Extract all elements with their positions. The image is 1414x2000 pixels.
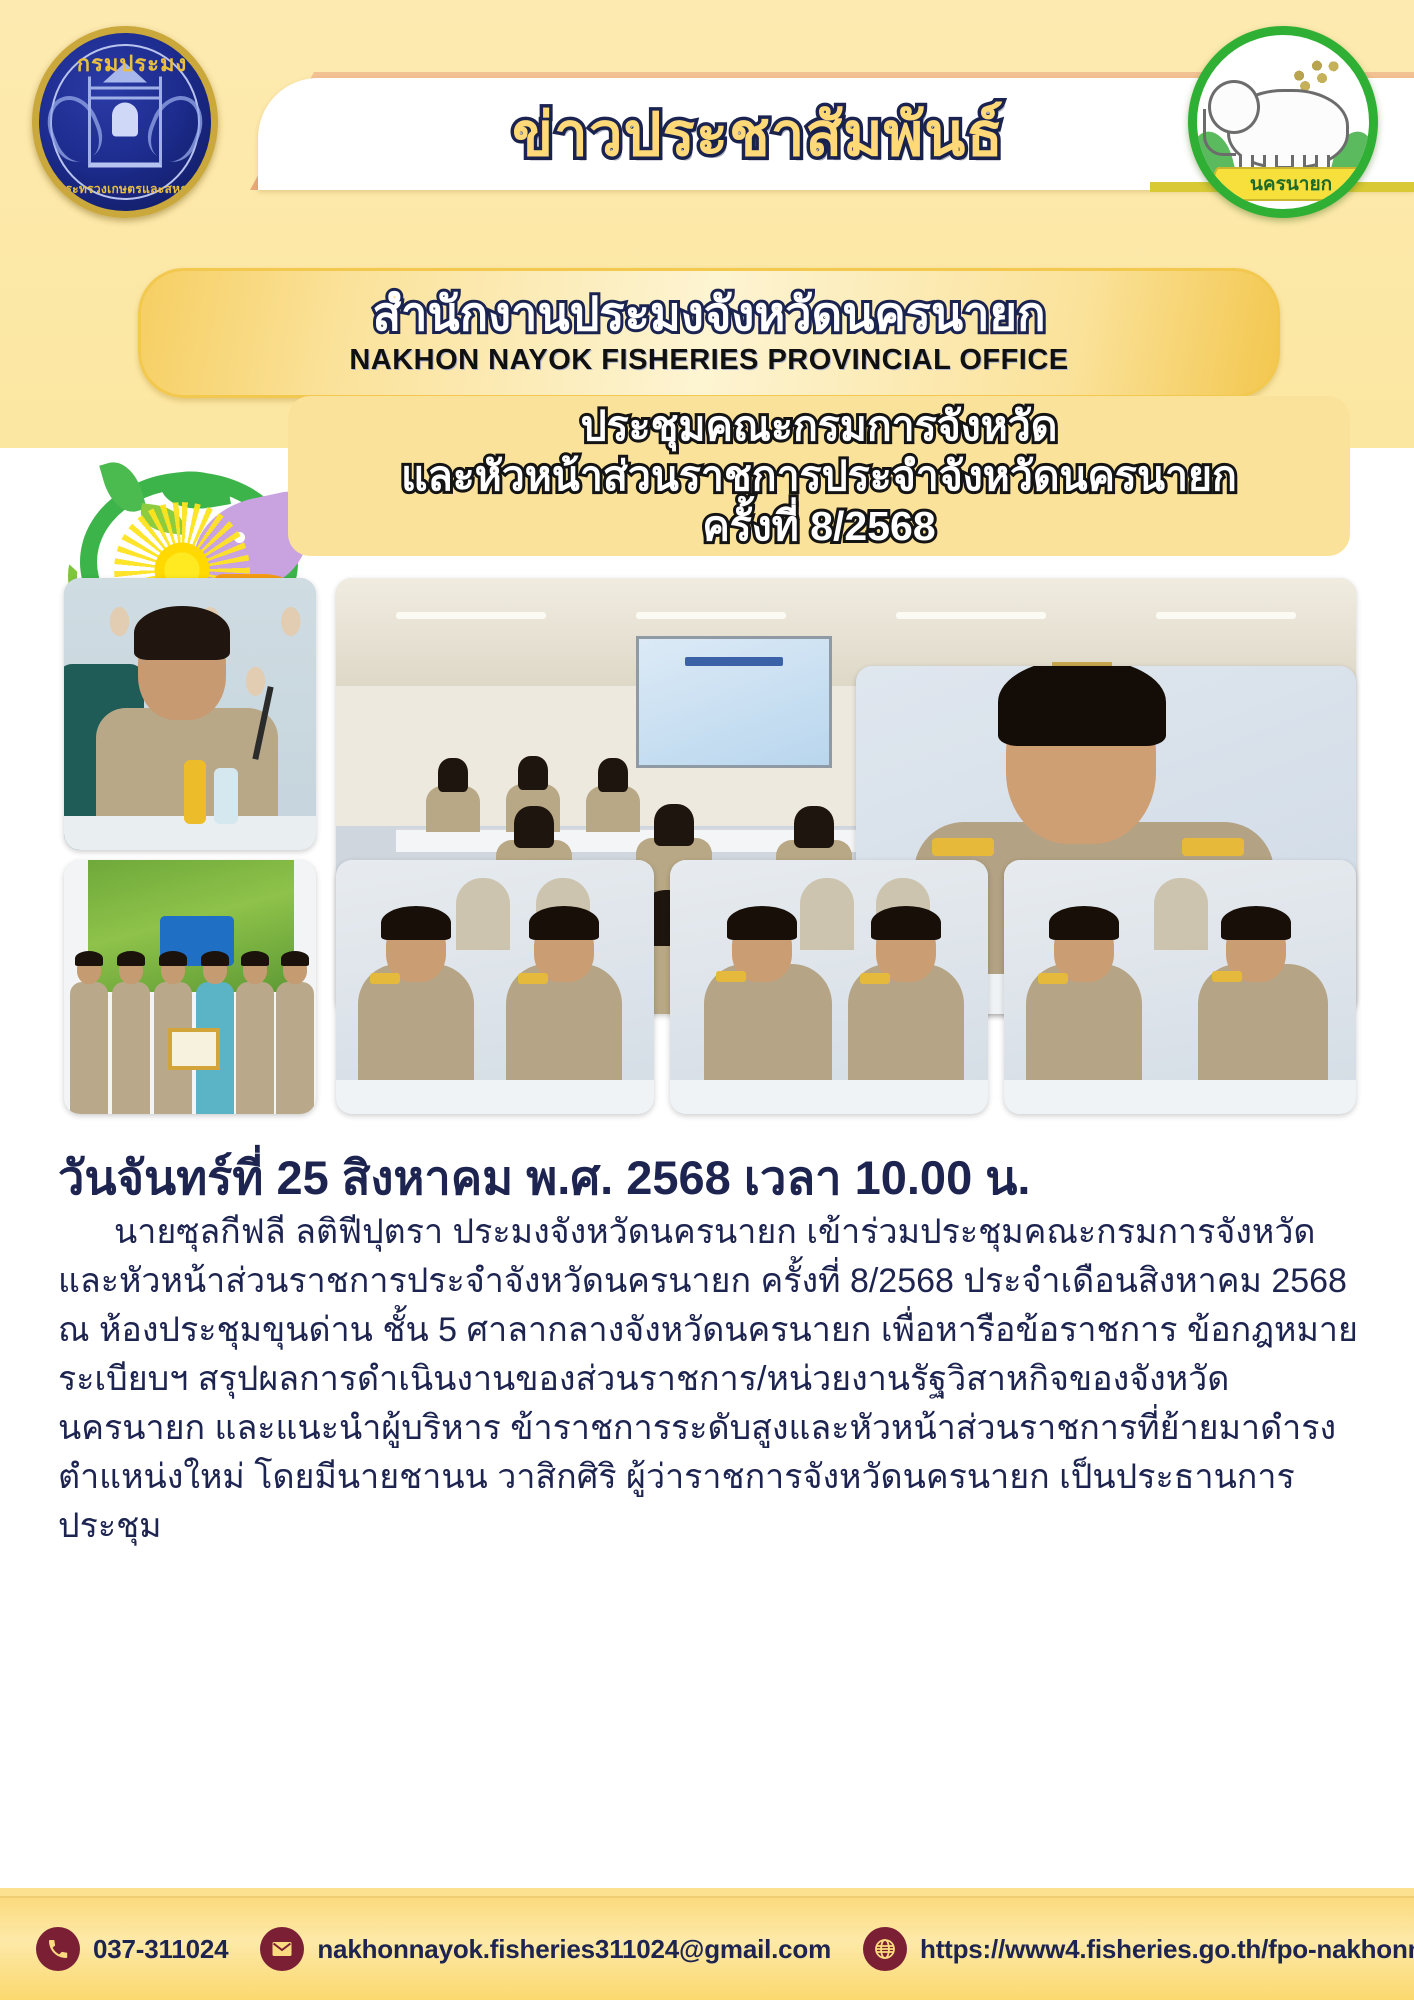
article-body: นายซุลกีฟลี ลติฟีปุตรา ประมงจังหวัดนครนา… (58, 1208, 1358, 1551)
seal-shrine-motif (88, 77, 162, 168)
department-of-fisheries-seal-icon: กรมประมง กระทรวงเกษตรและสหกรณ์ (32, 26, 218, 218)
dept-seal-top-text: กรมประมง (39, 46, 218, 81)
footer-phone-text: 037-311024 (93, 1934, 228, 1965)
footer-phone-item[interactable]: 037-311024 (36, 1927, 228, 1971)
header-zone: ข่าวประชาสัมพันธ์ กรมประมง กระทรวงเกษตรแ… (0, 0, 1414, 448)
office-name-pill: สำนักงานประมงจังหวัดนครนายก NAKHON NAYOK… (138, 268, 1280, 398)
photo-seated-officials-1 (336, 860, 654, 1114)
footer-email-item[interactable]: nakhonnayok.fisheries311024@gmail.com (260, 1927, 831, 1971)
article-body-text: นายซุลกีฟลี ลติฟีปุตรา ประมงจังหวัดนครนา… (58, 1208, 1358, 1551)
office-name-thai: สำนักงานประมงจังหวัดนครนายก (372, 289, 1045, 338)
topic-headline-text: ประชุมคณะกรมการจังหวัด และหัวหน้าส่วนราช… (401, 401, 1237, 551)
topic-headline-box: ประชุมคณะกรมการจังหวัด และหัวหน้าส่วนราช… (288, 396, 1350, 556)
topic-line-1: ประชุมคณะกรมการจังหวัด (401, 401, 1237, 451)
footer-website-text: https://www4.fisheries.go.th/fpo-nakhonn… (920, 1934, 1414, 1965)
news-banner-title: ข่าวประชาสัมพันธ์ (258, 78, 1258, 190)
email-icon (260, 1927, 304, 1971)
footer-website-item[interactable]: https://www4.fisheries.go.th/fpo-nakhonn… (863, 1927, 1414, 1971)
office-name-english: NAKHON NAYOK FISHERIES PROVINCIAL OFFICE (349, 344, 1068, 377)
dept-seal-bottom-text: กระทรวงเกษตรและสหกรณ์ (39, 180, 218, 199)
article-date-line: วันจันทร์ที่ 25 สิงหาคม พ.ศ. 2568 เวลา 1… (58, 1140, 1358, 1215)
topic-line-3: ครั้งที่ 8/2568 (401, 501, 1237, 551)
contact-footer-bar: 037-311024 nakhonnayok.fisheries311024@g… (0, 1896, 1414, 2000)
photo-group-certificate (64, 860, 316, 1114)
topic-line-2: และหัวหน้าส่วนราชการประจำจังหวัดนครนายก (401, 451, 1237, 501)
photo-chairman-portrait (64, 578, 316, 850)
elephant-trunk (1203, 109, 1236, 156)
content-sheet: ประชุมคณะกรมการจังหวัด และหัวหน้าส่วนราช… (0, 448, 1414, 1888)
nakhon-nayok-province-seal-icon: นครนายก (1188, 26, 1378, 218)
photo-seated-officials-2 (670, 860, 988, 1114)
province-seal-banner-text: นครนายก (1213, 167, 1369, 201)
photo-seated-officials-3 (1004, 860, 1356, 1114)
globe-icon (863, 1927, 907, 1971)
poster-root: ข่าวประชาสัมพันธ์ กรมประมง กระทรวงเกษตรแ… (0, 0, 1414, 2000)
footer-email-text: nakhonnayok.fisheries311024@gmail.com (317, 1934, 831, 1965)
photo-collage (60, 578, 1360, 1118)
phone-icon (36, 1927, 80, 1971)
